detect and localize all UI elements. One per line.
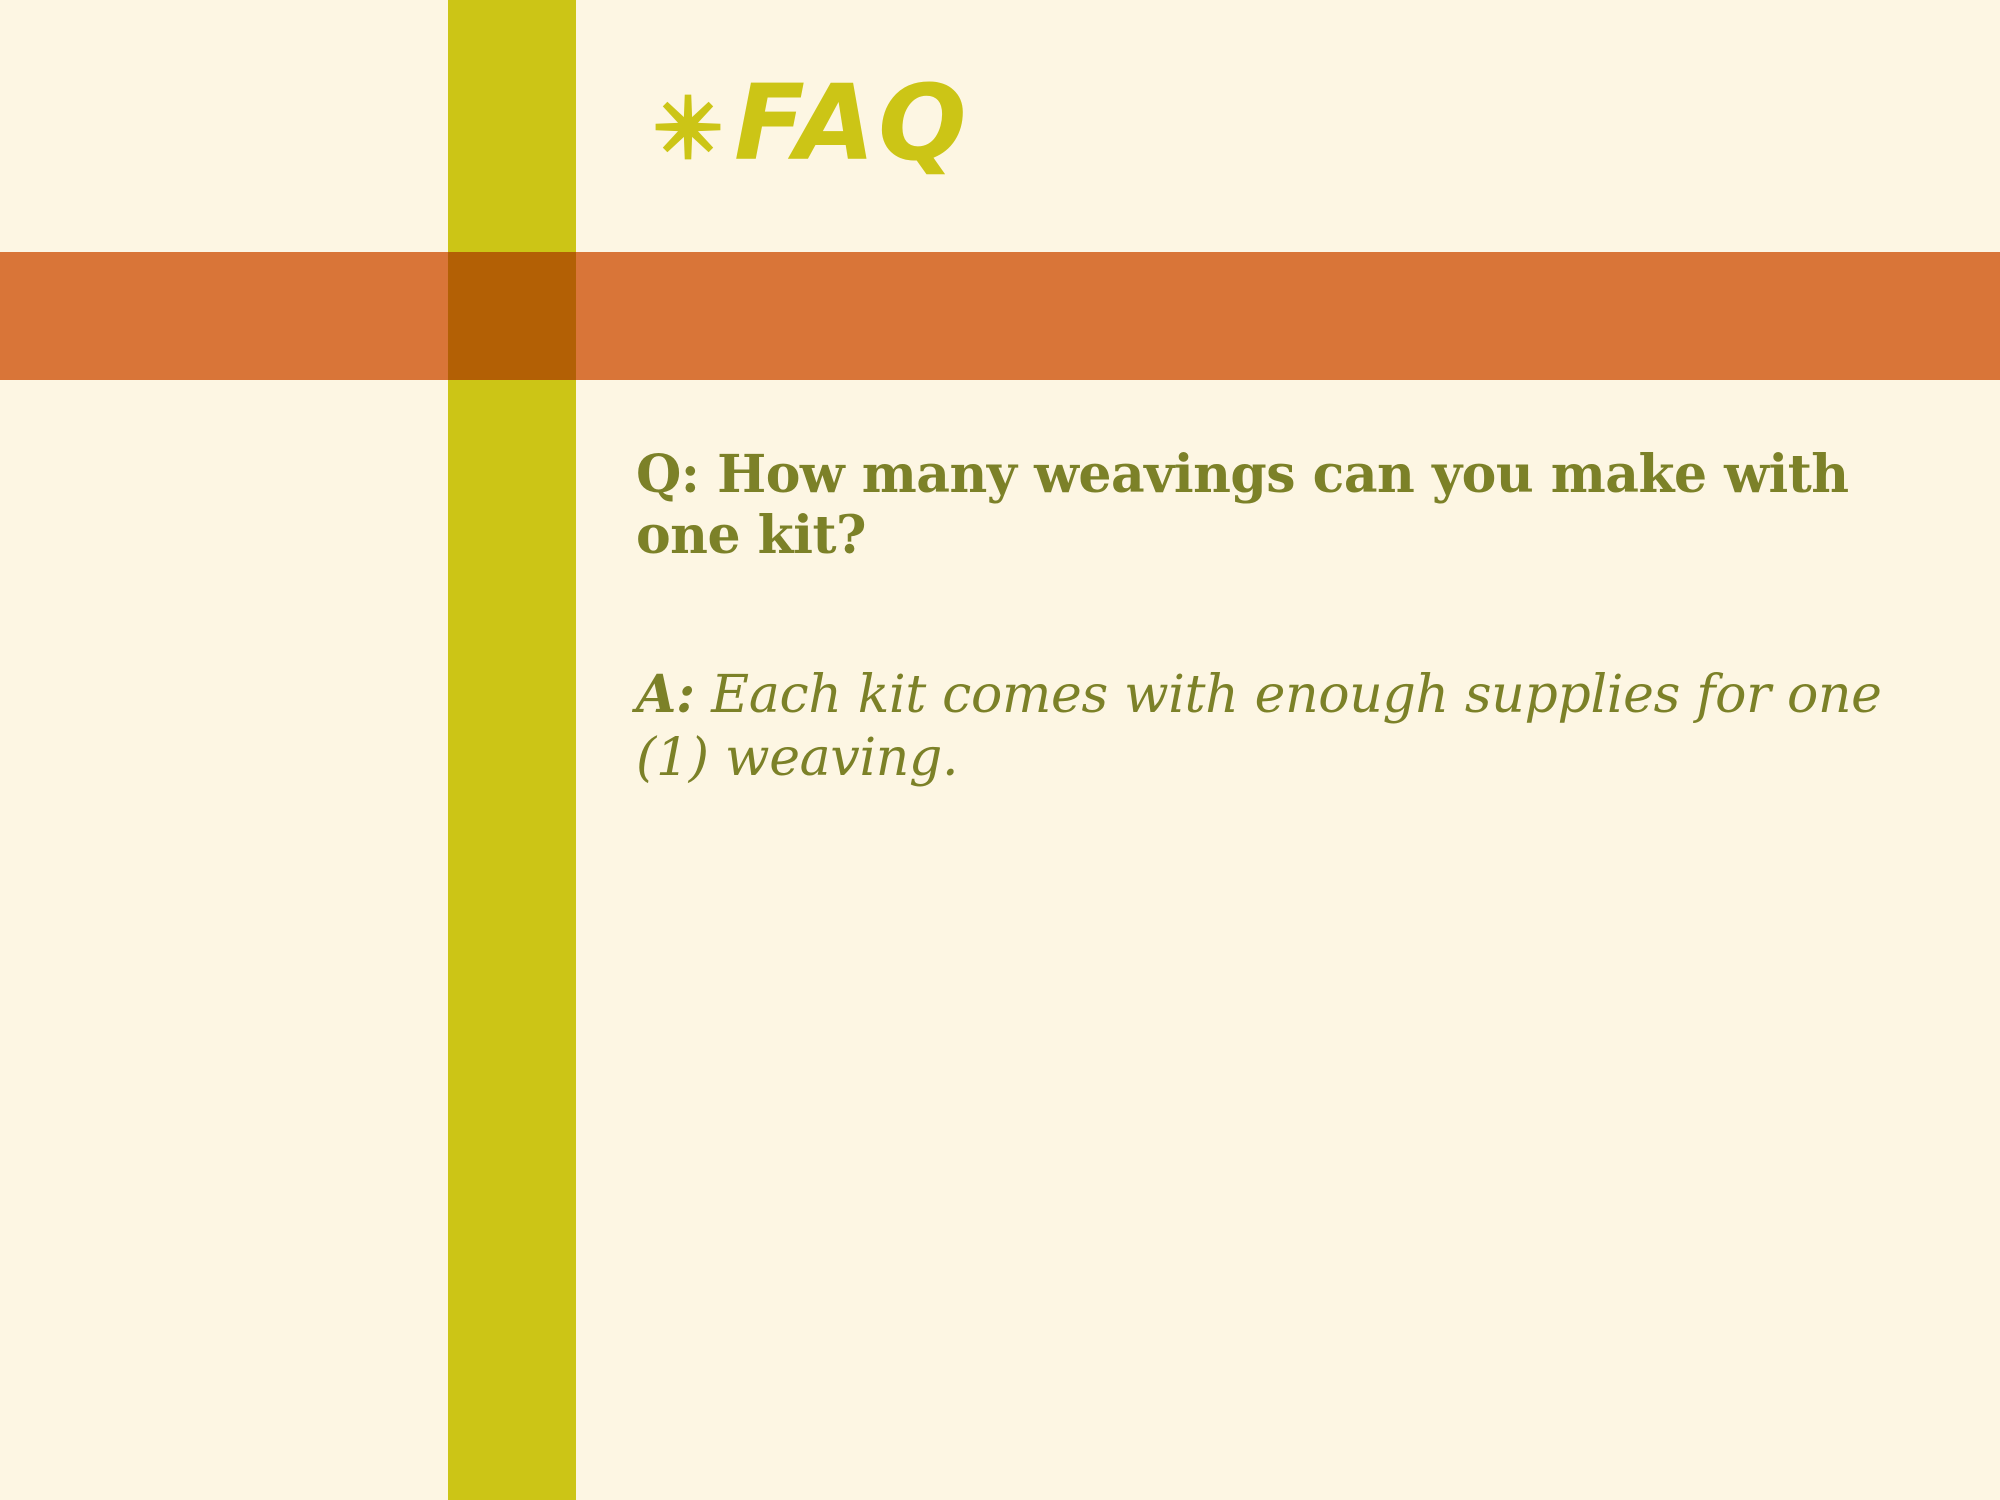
faq-content: Q: How many weavings can you make with o…	[636, 444, 1936, 791]
horizontal-accent-bar	[0, 252, 2000, 380]
asterisk-flower-icon	[652, 91, 724, 163]
faq-answer-text: Each kit comes with enough supplies for …	[636, 665, 1882, 788]
faq-answer: A: Each kit comes with enough supplies f…	[636, 567, 1936, 791]
bar-intersection-block	[448, 252, 576, 380]
faq-answer-prefix: A:	[636, 664, 695, 725]
faq-question: Q: How many weavings can you make with o…	[636, 444, 1936, 567]
vertical-accent-bar	[448, 0, 576, 1500]
page-title: FAQ	[734, 71, 970, 175]
faq-slide: FAQ Q: How many weavings can you make wi…	[0, 0, 2000, 1500]
slide-header: FAQ	[652, 58, 970, 188]
